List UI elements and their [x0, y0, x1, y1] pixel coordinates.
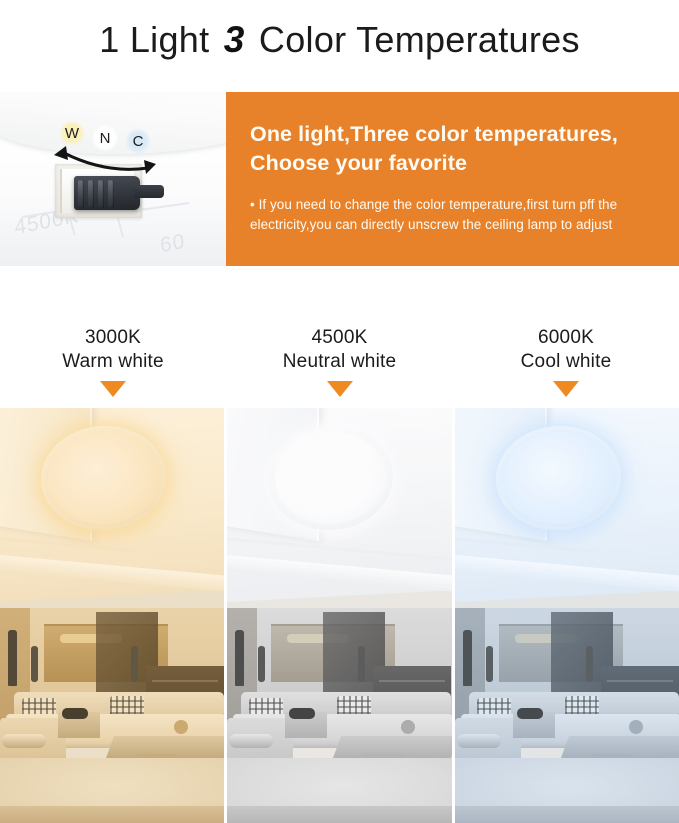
switch-grip-ridges	[78, 180, 122, 208]
kelvin-name: Neutral white	[283, 350, 396, 374]
title-prefix: 1 Light	[99, 19, 220, 60]
banner-body-text: • If you need to change the color temper…	[250, 195, 657, 235]
room-photo-warm-white	[0, 408, 224, 823]
banner-row: 4500K 60 W N C One light,Three color tem…	[0, 92, 679, 266]
side-table	[229, 734, 273, 748]
floor	[0, 806, 224, 823]
triangle-marker-icon	[100, 381, 126, 397]
triangle-marker-icon	[327, 381, 353, 397]
decor-sphere	[629, 720, 643, 734]
decor-stand	[586, 646, 593, 682]
decor-stand	[486, 646, 493, 682]
tray-decor	[62, 708, 88, 719]
decor-sphere	[401, 720, 415, 734]
decor-stand	[258, 646, 265, 682]
ceiling-area	[227, 408, 452, 626]
room-photo-cool-white	[455, 408, 679, 823]
title-suffix: Color Temperatures	[249, 19, 580, 60]
title-number: 3	[220, 19, 249, 60]
badge-cool: C	[125, 128, 151, 154]
temperature-label-3000k: 3000K Warm white	[0, 326, 226, 408]
floor	[455, 806, 679, 823]
living-room-area	[0, 608, 224, 823]
ceiling-area	[455, 408, 679, 626]
engraved-label-60: 60	[159, 230, 186, 259]
living-room-area	[227, 608, 452, 823]
kelvin-name: Cool white	[521, 350, 612, 374]
kelvin-name: Warm white	[62, 350, 164, 374]
decor-sphere	[174, 720, 188, 734]
ceiling-area	[0, 408, 224, 626]
living-room-area	[455, 608, 679, 823]
kelvin-value: 4500K	[312, 326, 368, 350]
kelvin-value: 3000K	[85, 326, 141, 350]
triangle-marker-icon	[553, 381, 579, 397]
orange-info-banner: One light,Three color temperatures, Choo…	[226, 92, 679, 266]
tray-decor	[517, 708, 543, 719]
temperature-label-4500k: 4500K Neutral white	[226, 326, 453, 408]
side-table	[457, 734, 501, 748]
switch-closeup-photo: 4500K 60 W N C	[0, 92, 226, 266]
badge-warm: W	[59, 120, 85, 146]
decor-stand	[31, 646, 38, 682]
figurine-sculpture	[8, 630, 17, 686]
temperature-label-6000k: 6000K Cool white	[453, 326, 679, 408]
badge-neutral: N	[92, 125, 118, 151]
kelvin-value: 6000K	[538, 326, 594, 350]
decor-stand	[358, 646, 365, 682]
product-infographic: 1 Light 3 Color Temperatures 4500K 60	[0, 0, 679, 823]
figurine-sculpture	[463, 630, 472, 686]
page-title-bar: 1 Light 3 Color Temperatures	[0, 0, 679, 80]
banner-headline: One light,Three color temperatures, Choo…	[250, 120, 657, 178]
side-table	[2, 734, 46, 748]
room-photo-neutral-white	[227, 408, 452, 823]
tray-decor	[289, 708, 315, 719]
temperature-labels-row: 3000K Warm white 4500K Neutral white 600…	[0, 326, 679, 408]
room-comparison-photos	[0, 408, 679, 823]
floor	[227, 806, 452, 823]
figurine-sculpture	[235, 630, 244, 686]
page-title: 1 Light 3 Color Temperatures	[99, 19, 580, 61]
decor-stand	[131, 646, 138, 682]
